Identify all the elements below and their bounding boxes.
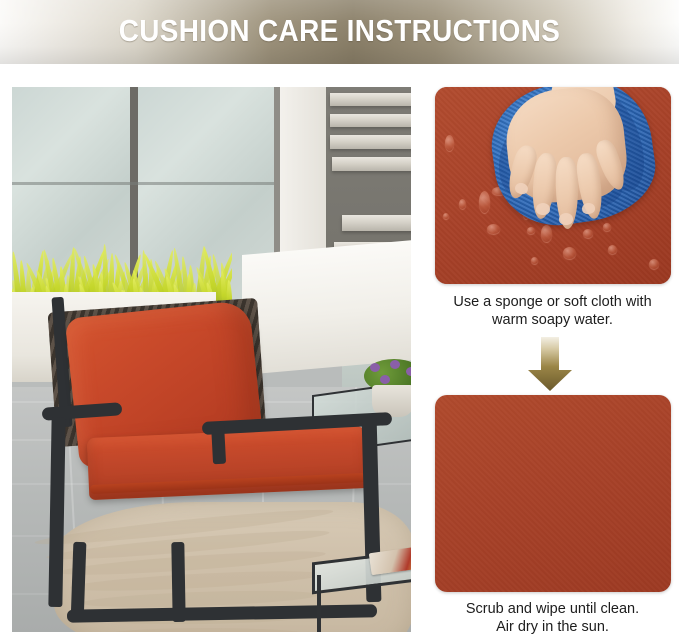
step-1-caption-line-1: Use a sponge or soft cloth with	[432, 293, 673, 311]
patio-chair-photo: EASY TO CLEAN	[12, 87, 411, 632]
header-banner: CUSHION CARE INSTRUCTIONS	[0, 0, 679, 64]
flower	[370, 363, 380, 372]
chair-arm-front-post	[211, 422, 226, 465]
water-droplet	[583, 229, 593, 238]
flower	[406, 367, 411, 376]
water-droplet	[541, 225, 552, 242]
page-title: CUSHION CARE INSTRUCTIONS	[34, 0, 645, 64]
floating-stair-step	[330, 93, 411, 106]
water-droplet	[527, 227, 535, 234]
step-1-image	[435, 87, 671, 284]
floating-stair-step	[332, 157, 411, 171]
water-droplet	[487, 224, 500, 234]
water-droplet	[479, 191, 490, 213]
step-1-caption: Use a sponge or soft cloth with warm soa…	[432, 293, 673, 329]
chair-wicker-base	[89, 482, 381, 544]
water-droplet	[459, 199, 466, 209]
step-2-image	[435, 395, 671, 592]
fingernail	[536, 203, 550, 215]
flower	[380, 375, 390, 384]
step-2-caption: Scrub and wipe until clean. Air dry in t…	[432, 600, 673, 636]
water-droplet	[603, 223, 611, 231]
water-droplet	[563, 247, 576, 259]
flow-arrow	[432, 337, 673, 393]
planter-ledge	[242, 238, 411, 375]
water-droplet	[445, 135, 454, 151]
rug-pattern	[106, 628, 310, 632]
step-1-caption-line-2: warm soapy water.	[432, 311, 673, 329]
step-2-caption-line-1: Scrub and wipe until clean.	[432, 600, 673, 618]
water-droplet	[608, 245, 617, 254]
coffee-table-legs	[317, 575, 411, 632]
down-arrow-icon	[432, 337, 673, 393]
flower	[390, 360, 400, 369]
floating-stair-step	[330, 114, 411, 127]
water-droplet	[649, 259, 659, 269]
floating-stair-step	[330, 135, 411, 149]
care-steps-column: Use a sponge or soft cloth with warm soa…	[432, 87, 673, 632]
fingernail	[559, 213, 573, 225]
step-2-caption-line-2: Air dry in the sun.	[432, 618, 673, 636]
water-droplet	[531, 257, 538, 264]
water-droplet	[443, 213, 449, 219]
window-mullion-horizontal	[12, 182, 278, 185]
floating-stair-step	[342, 215, 411, 231]
